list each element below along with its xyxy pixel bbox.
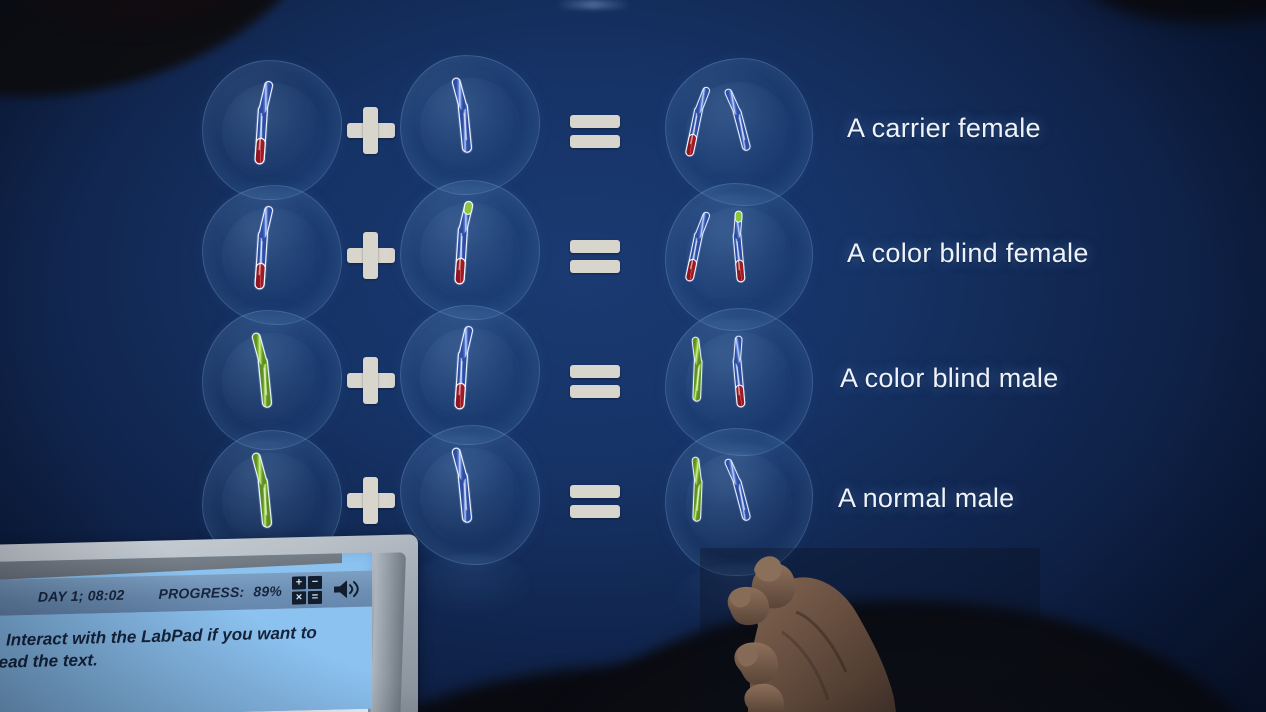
plus-operator-icon: + bbox=[343, 352, 399, 408]
chromosome-parent-a bbox=[235, 74, 292, 172]
parent-b-cell bbox=[400, 180, 540, 320]
chromosome-parent-b bbox=[435, 194, 492, 292]
labpad-instruction-text: Interact with the LabPad if you want to … bbox=[0, 621, 344, 674]
equals-operator-icon: = bbox=[568, 352, 624, 408]
parent-b-cell bbox=[400, 55, 540, 195]
progress-value: 89% bbox=[253, 583, 282, 600]
parent-a-cell bbox=[202, 60, 342, 200]
result-label: A color blind male bbox=[840, 363, 1059, 394]
labpad-screen[interactable]: DAY 1; 08:02 PROGRESS: 89% + − × = Inter… bbox=[0, 553, 372, 712]
plus-operator-icon: + bbox=[343, 472, 399, 528]
result-label: A carrier female bbox=[847, 113, 1041, 144]
equals-operator-icon: = bbox=[568, 472, 624, 528]
player-hand bbox=[700, 548, 1040, 712]
chromosome-parent-a bbox=[235, 444, 292, 542]
calculator-key-plus: + bbox=[292, 576, 306, 589]
progress-label: PROGRESS: bbox=[159, 584, 245, 602]
inheritance-equation-grid: +=A carrier female+=A color blind female… bbox=[0, 0, 1266, 600]
plus-operator-icon: + bbox=[343, 227, 399, 283]
chromosome-parent-b bbox=[435, 439, 492, 537]
chromosome-parent-b bbox=[435, 69, 492, 167]
result-label: A normal male bbox=[838, 483, 1014, 514]
calculator-key-times: × bbox=[292, 591, 306, 604]
day-time-readout: DAY 1; 08:02 bbox=[38, 587, 125, 605]
chromosome-parent-b bbox=[435, 319, 492, 417]
labpad-bezel-right-edge bbox=[370, 552, 406, 712]
game-scene: +=A carrier female+=A color blind female… bbox=[0, 0, 1266, 712]
equals-operator-icon: = bbox=[568, 227, 624, 283]
calculator-icon[interactable]: + − × = bbox=[292, 576, 322, 605]
speaker-icon[interactable] bbox=[332, 577, 362, 602]
calculator-key-minus: − bbox=[308, 576, 322, 589]
chromosome-parent-a bbox=[235, 324, 292, 422]
parent-a-cell bbox=[202, 185, 342, 325]
calculator-key-equals: = bbox=[308, 591, 322, 604]
result-label: A color blind female bbox=[847, 238, 1089, 269]
parent-b-cell bbox=[400, 425, 540, 565]
equals-operator-icon: = bbox=[568, 102, 624, 158]
labpad-device[interactable]: DAY 1; 08:02 PROGRESS: 89% + − × = Inter… bbox=[0, 545, 430, 712]
labpad-content-area: Interact with the LabPad if you want to … bbox=[0, 607, 372, 712]
parent-b-cell bbox=[400, 305, 540, 445]
chromosome-parent-a bbox=[235, 199, 292, 297]
plus-operator-icon: + bbox=[343, 102, 399, 158]
